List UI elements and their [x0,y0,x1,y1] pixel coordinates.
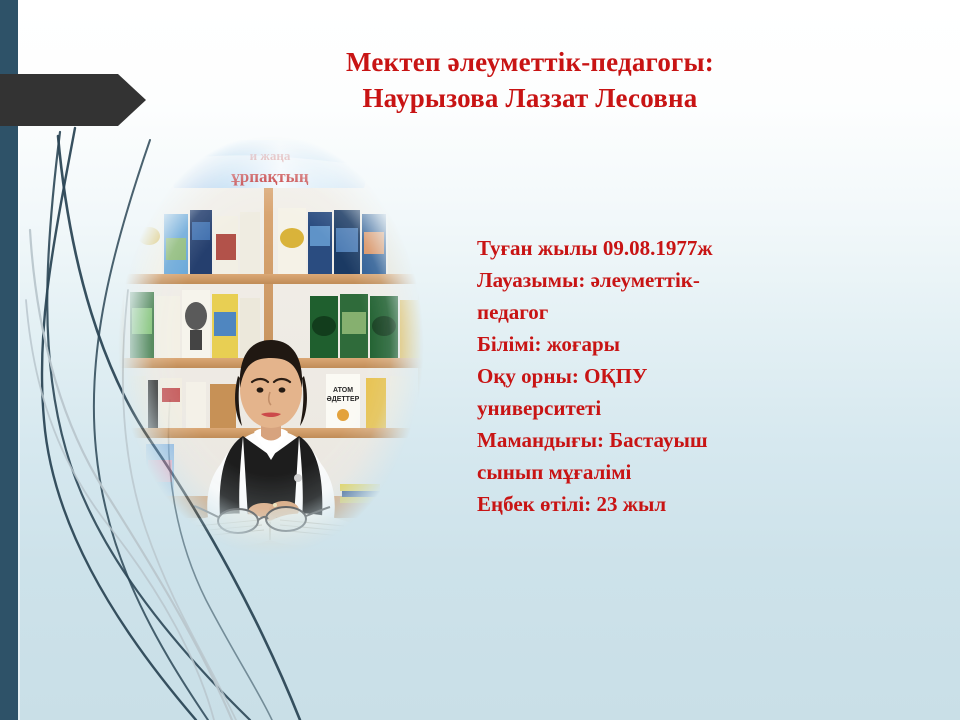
info-line: Мамандығы: Бастауыш [477,424,807,456]
svg-text:ұрпақтың: ұрпақтың [231,167,309,186]
svg-text:АТОМ: АТОМ [333,387,353,394]
portrait-photo-oval: и жаңа ұрпақтың [112,126,430,564]
info-line: университеті [477,392,807,424]
info-line: педагог [477,296,807,328]
info-text-block: Туған жылы 09.08.1977ж Лауазымы: әлеумет… [477,232,807,520]
info-line: Туған жылы 09.08.1977ж [477,232,807,264]
slide-title: Мектеп әлеуметтік-педагогы: Наурызова Ла… [180,44,880,116]
slide-title-line-2: Наурызова Лаззат Лесовна [180,80,880,116]
wall-banner: и жаңа ұрпақтың [166,140,374,188]
slide-title-line-1: Мектеп әлеуметтік-педагогы: [180,44,880,80]
portrait-photo: и жаңа ұрпақтың [112,126,430,564]
svg-text:ӘДЕТТЕР: ӘДЕТТЕР [327,396,360,403]
svg-text:и жаңа: и жаңа [250,148,291,163]
info-line: сынып мұғалімі [477,456,807,488]
info-line: Еңбек өтілі: 23 жыл [477,488,807,520]
info-line: Оқу орны: ОҚПУ [477,360,807,392]
info-line: Лауазымы: әлеуметтік- [477,264,807,296]
library-portrait-illustration: и жаңа ұрпақтың [112,126,430,564]
arrow-banner-shape [0,74,146,126]
info-line: Білімі: жоғары [477,328,807,360]
slide-canvas: и жаңа ұрпақтың [0,0,960,720]
